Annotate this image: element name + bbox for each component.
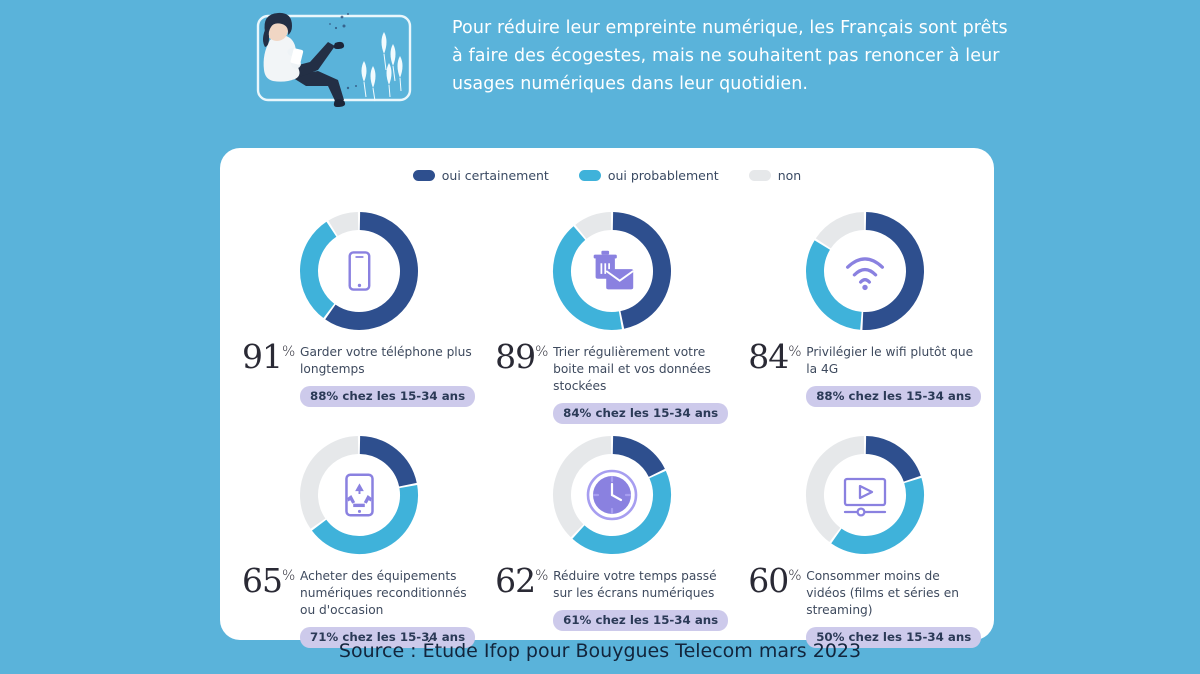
legend-item-oui-certainement: oui certainement	[413, 168, 549, 183]
video-player-icon	[837, 467, 893, 523]
recycle-phone-icon	[331, 467, 387, 523]
donut-chart-privilegier-wifi	[802, 208, 928, 334]
donut-segment-non	[823, 221, 864, 243]
donut-segment-non	[333, 221, 358, 228]
donut-chart-acheter-reconditionne	[296, 432, 422, 558]
donut-chart-reduire-temps-ecran	[549, 432, 675, 558]
smartphone-icon	[331, 243, 387, 299]
stat-badge: 88% chez les 15-34 ans	[806, 386, 981, 407]
donut-chart-trier-boite-mail	[549, 208, 675, 334]
stat-label: Réduire votre temps passé sur les écrans…	[553, 568, 728, 602]
stat-trier-boite-mail: 89% Trier régulièrement votre boite mail…	[485, 200, 738, 424]
clock-icon	[584, 467, 640, 523]
stat-percent: 91%	[242, 340, 295, 373]
stat-label: Consommer moins de vidéos (films et séri…	[806, 568, 981, 619]
legend-label-oui-probablement: oui probablement	[608, 168, 719, 183]
chart-legend: oui certainement oui probablement non	[220, 168, 994, 183]
stat-percent: 84%	[748, 340, 801, 373]
legend-item-oui-probablement: oui probablement	[579, 168, 719, 183]
legend-swatch-oui-probablement	[579, 170, 601, 181]
source-caption: Source : Étude Ifop pour Bouygues Teleco…	[0, 640, 1200, 662]
legend-label-oui-certainement: oui certainement	[442, 168, 549, 183]
stat-percent: 65%	[242, 564, 295, 597]
legend-swatch-non	[749, 170, 771, 181]
stats-grid: 91% Garder votre téléphone plus longtemp…	[232, 200, 982, 630]
donut-segment-non	[581, 221, 611, 232]
donut-chart-garder-telephone	[296, 208, 422, 334]
stats-card: oui certainement oui probablement non	[220, 148, 994, 640]
legend-label-non: non	[778, 168, 802, 183]
stat-badge: 84% chez les 15-34 ans	[553, 403, 728, 424]
header-banner: Pour réduire leur empreinte numérique, l…	[0, 0, 1200, 130]
stat-label: Privilégier le wifi plutôt que la 4G	[806, 344, 981, 378]
stat-garder-telephone: 91% Garder votre téléphone plus longtemp…	[232, 200, 485, 424]
stat-label: Trier régulièrement votre boite mail et …	[553, 344, 728, 395]
trash-envelope-icon	[584, 243, 640, 299]
stat-percent: 60%	[748, 564, 801, 597]
stat-label: Acheter des équipements numériques recon…	[300, 568, 475, 619]
wifi-icon	[837, 243, 893, 299]
legend-item-non: non	[749, 168, 802, 183]
stat-percent: 89%	[495, 340, 548, 373]
headline-text: Pour réduire leur empreinte numérique, l…	[452, 14, 1022, 98]
person-sitting-with-phone-illustration	[232, 2, 432, 120]
stat-privilegier-wifi: 84% Privilégier le wifi plutôt que la 4G…	[738, 200, 991, 424]
stat-consommer-moins-videos: 60% Consommer moins de vidéos (films et …	[738, 424, 991, 648]
donut-segment-oui-probablement	[309, 229, 331, 311]
stat-percent: 62%	[495, 564, 548, 597]
stat-label: Garder votre téléphone plus longtemps	[300, 344, 475, 378]
stat-badge: 61% chez les 15-34 ans	[553, 610, 728, 631]
stat-badge: 88% chez les 15-34 ans	[300, 386, 475, 407]
stat-acheter-reconditionne: 65% Acheter des équipements numériques r…	[232, 424, 485, 648]
legend-swatch-oui-certainement	[413, 170, 435, 181]
donut-chart-consommer-moins-videos	[802, 432, 928, 558]
stat-reduire-temps-ecran: 62% Réduire votre temps passé sur les éc…	[485, 424, 738, 648]
